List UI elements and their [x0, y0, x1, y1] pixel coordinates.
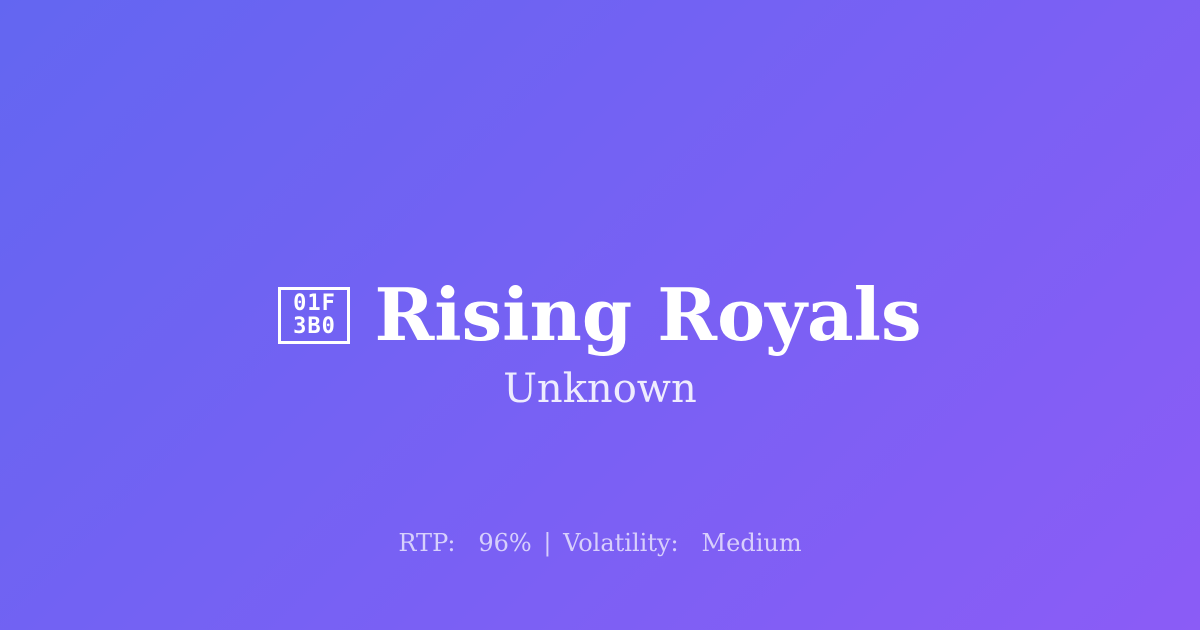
slot-machine-icon-codepoint-bottom: 3B0 [293, 315, 336, 338]
rtp-label: RTP: [398, 529, 455, 557]
volatility-label: Volatility: [563, 529, 679, 557]
meta-separator: | [539, 529, 555, 557]
rtp-value: 96% [478, 529, 531, 557]
game-preview-card: 01F 3B0 Rising Royals Unknown RTP: 96% |… [0, 0, 1200, 630]
slot-machine-icon-codepoint-top: 01F [293, 292, 336, 315]
volatility-value: Medium [702, 529, 802, 557]
game-meta-line: RTP: 96% | Volatility: Medium [0, 528, 1200, 559]
page-title: Rising Royals [374, 279, 921, 351]
slot-machine-icon: 01F 3B0 [278, 287, 350, 344]
provider-label: Unknown [0, 365, 1200, 413]
